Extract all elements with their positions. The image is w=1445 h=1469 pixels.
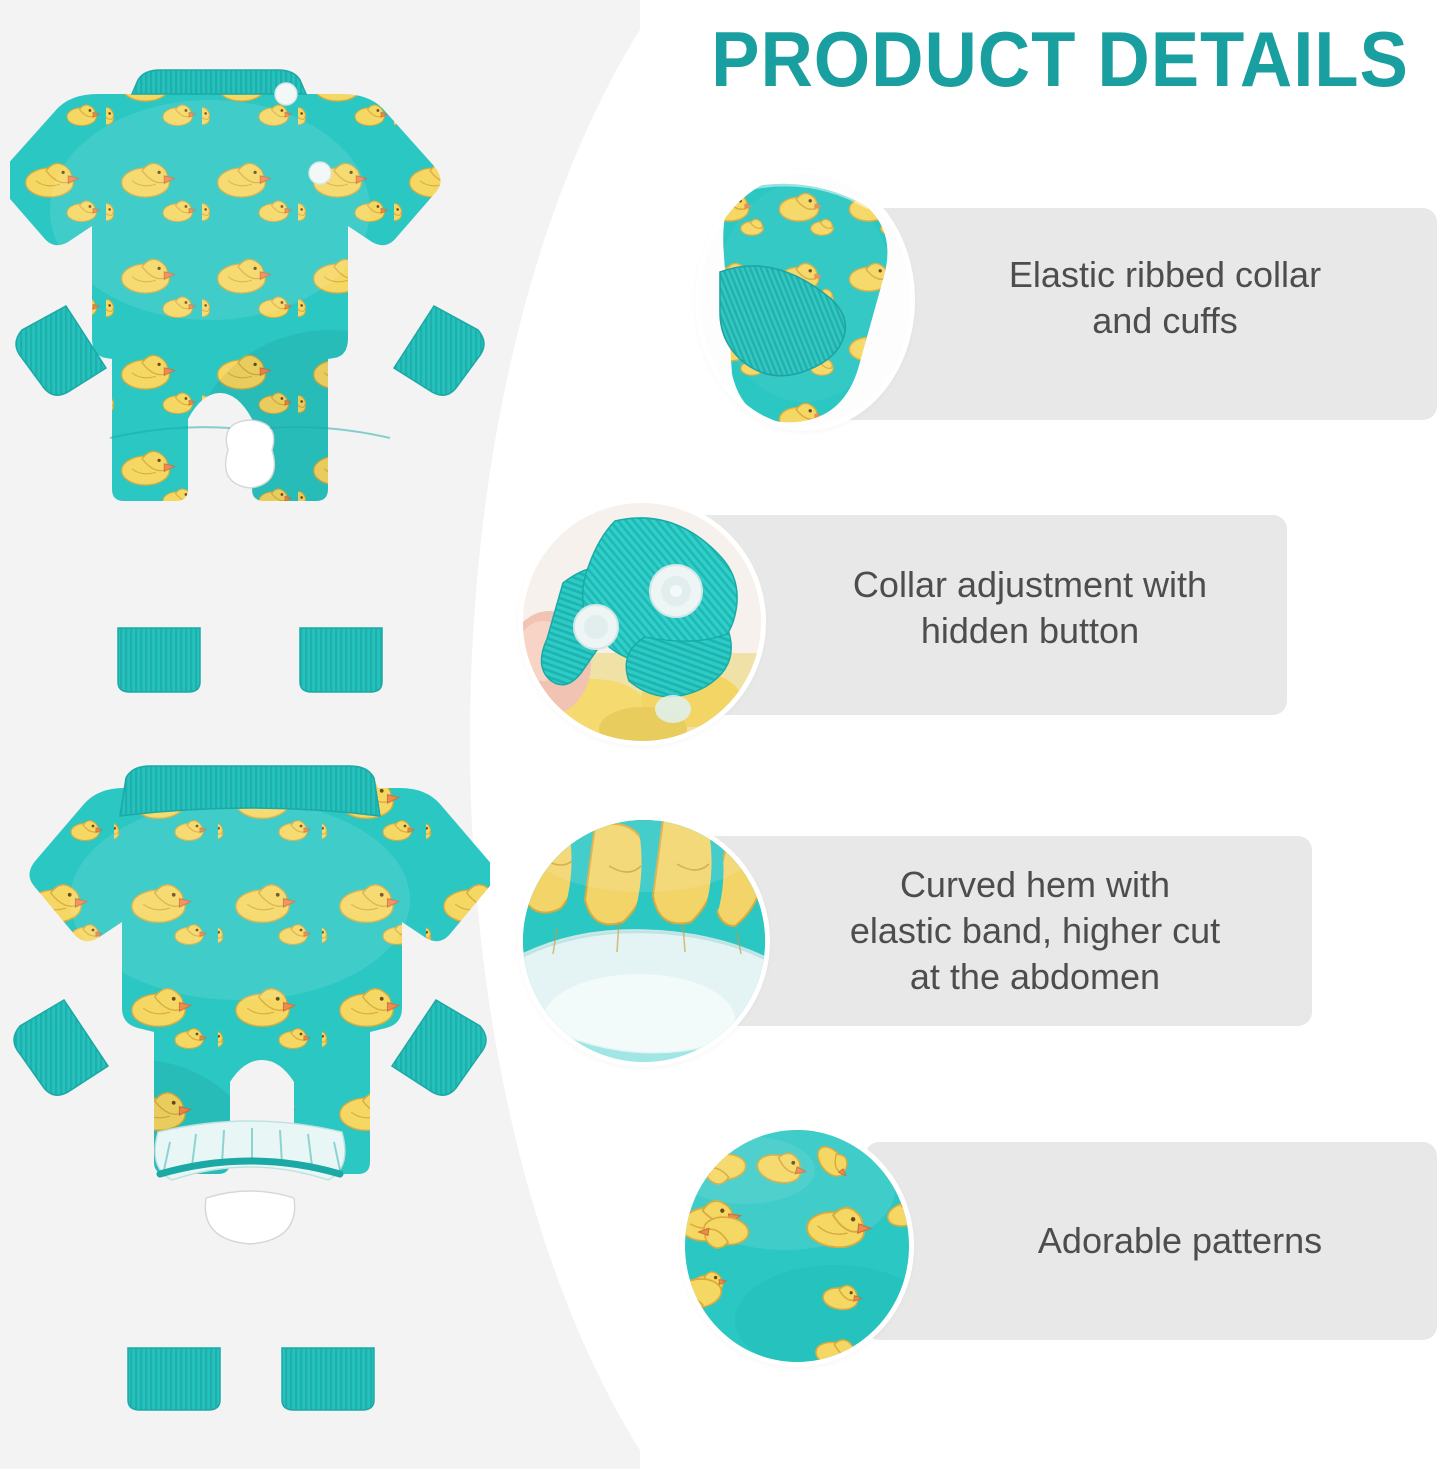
ribbed-neck-band xyxy=(120,766,380,816)
snap-button-icon xyxy=(650,565,702,617)
dog-pajama-back-illustration xyxy=(10,750,490,1430)
detail-photo-3 xyxy=(523,820,765,1062)
detail-label-1: Elastic ribbed collar and cuffs xyxy=(900,252,1430,344)
dog-pajama-front-illustration xyxy=(10,40,490,720)
page-title: PRODUCT DETAILS xyxy=(710,16,1409,102)
ribbed-cuff-closeup xyxy=(700,174,910,426)
detail-label-2: Collar adjustment with hidden button xyxy=(770,562,1290,654)
detail-photo-1 xyxy=(700,174,910,426)
detail-label-4: Adorable patterns xyxy=(945,1218,1415,1264)
product-photo-back xyxy=(10,750,490,1430)
detail-photo-4 xyxy=(685,1130,909,1362)
detail-photo-2 xyxy=(523,503,761,741)
detail-label-3: Curved hem with elastic band, higher cut… xyxy=(775,862,1295,1000)
snap-button-icon xyxy=(309,162,331,184)
product-photo-front xyxy=(10,40,490,720)
product-details-infographic: PRODUCT DETAILS xyxy=(0,0,1445,1469)
snap-button-icon xyxy=(275,83,297,105)
collar-snap-button-closeup xyxy=(523,503,761,741)
duck-pattern-closeup xyxy=(685,1130,909,1362)
curved-hem-closeup xyxy=(523,820,765,1062)
belly-opening xyxy=(226,420,275,488)
snap-button-icon xyxy=(574,605,618,649)
